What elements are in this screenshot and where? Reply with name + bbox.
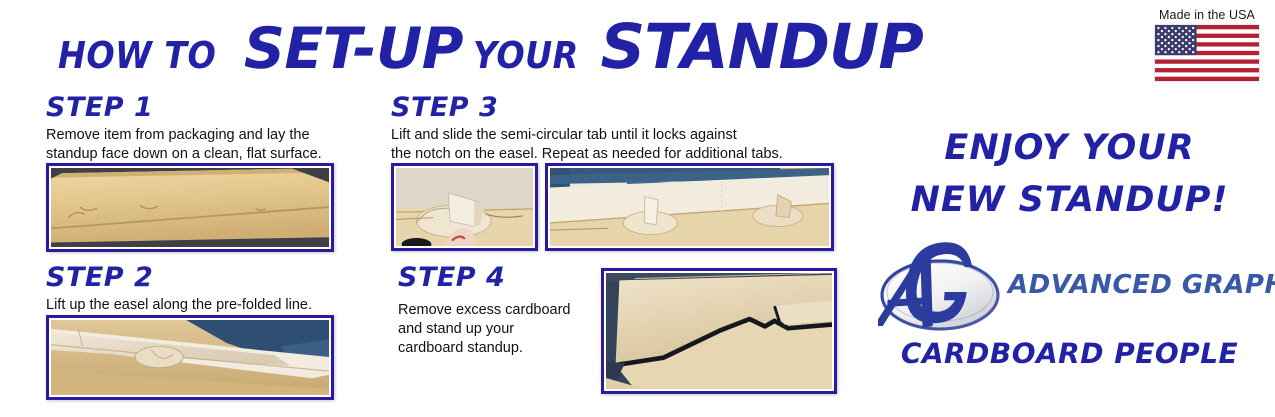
step-1-photo — [51, 168, 329, 247]
page-title-part-2: SET-UP — [244, 16, 463, 82]
step-3-photo-right — [550, 168, 829, 246]
step-3-photo-left — [396, 168, 533, 246]
step-1-photo-frame — [46, 163, 334, 252]
step-2-block: STEP 2 Lift up the easel along the pre-f… — [46, 262, 312, 315]
page-title-part-3: YOUR — [473, 34, 579, 77]
ag-monogram-logo: AG — [878, 238, 1006, 346]
step-2-body: Lift up the easel along the pre-folded l… — [46, 296, 312, 315]
brand-name: ADVANCED GRAPHICS — [1008, 270, 1275, 300]
made-in-usa-label: Made in the USA — [1148, 8, 1266, 22]
step-4-heading: STEP 4 — [398, 262, 570, 293]
step-1-block: STEP 1 Remove item from packaging and la… — [46, 92, 322, 164]
usa-flag-icon — [1155, 25, 1259, 81]
step-2-heading: STEP 2 — [46, 262, 312, 293]
step-3-block: STEP 3 Lift and slide the semi-circular … — [391, 92, 783, 164]
step-1-body: Remove item from packaging and lay the s… — [46, 126, 322, 164]
closing-line-1: ENJOY YOUR — [872, 128, 1267, 168]
step-2-photo-frame — [46, 315, 334, 400]
step-3-photo-frame-right — [545, 163, 834, 251]
step-4-body: Remove excess cardboard and stand up you… — [398, 301, 570, 358]
brand-tagline: CARDBOARD PEOPLE — [872, 337, 1267, 370]
step-2-photo — [51, 320, 329, 395]
page-title: HOW TO SET-UP YOUR STANDUP — [58, 10, 923, 82]
page-title-part-1: HOW TO — [58, 34, 216, 77]
step-4-block: STEP 4 Remove excess cardboard and stand… — [398, 262, 570, 358]
closing-line-2: NEW STANDUP! — [872, 180, 1267, 220]
made-in-usa-badge: Made in the USA — [1148, 8, 1266, 81]
step-3-photo-frame-left — [391, 163, 538, 251]
step-4-photo — [606, 273, 832, 389]
step-3-heading: STEP 3 — [391, 92, 783, 123]
step-1-heading: STEP 1 — [46, 92, 322, 123]
page-title-part-4: STANDUP — [601, 10, 923, 83]
step-4-photo-frame — [601, 268, 837, 394]
step-3-body: Lift and slide the semi-circular tab unt… — [391, 126, 783, 164]
